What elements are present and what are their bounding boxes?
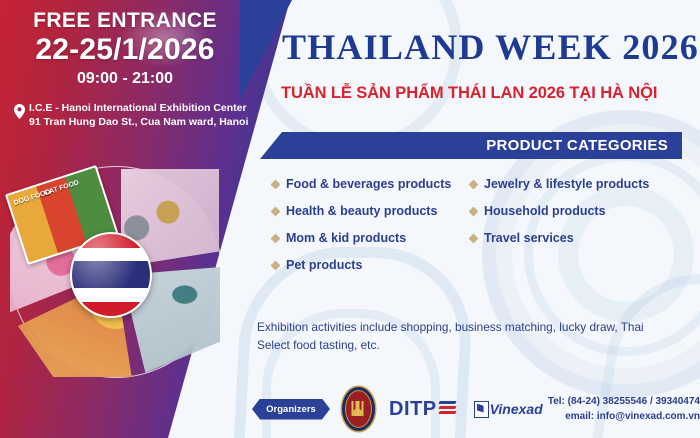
venue-address: 91 Tran Hung Dao St., Cua Nam ward, Hano… — [29, 115, 248, 129]
diamond-bullet-icon — [469, 233, 479, 243]
product-categories-banner: PRODUCT CATEGORIES — [260, 132, 682, 159]
venue-text: I.C.E - Hanoi International Exhibition C… — [29, 101, 248, 129]
product-categories-label: PRODUCT CATEGORIES — [486, 137, 668, 154]
exhibition-activities-text: Exhibition activities include shopping, … — [257, 318, 677, 355]
page-title: THAILAND WEEK 2026 — [282, 26, 699, 68]
venue-name: I.C.E - Hanoi International Exhibition C… — [29, 101, 248, 115]
thailand-flag-icon — [70, 232, 152, 318]
diamond-bullet-icon — [469, 206, 479, 216]
contact-tel: Tel: (84-24) 38255546 / 39340474 — [548, 394, 700, 410]
vinexad-logo: Vinexad — [474, 401, 543, 418]
diamond-bullet-icon — [271, 233, 281, 243]
category-item: Food & beverages products — [272, 177, 470, 191]
thailand-week-banner: FREE ENTRANCE 22-25/1/2026 09:00 - 21:00… — [0, 0, 700, 438]
category-item: Jewelry & lifestyle products — [470, 177, 649, 191]
categories-column-2: Jewelry & lifestyle products Household p… — [470, 177, 649, 272]
footer-organizers-bar: Organizers DITP Vinexad Tel: (84-24) 382… — [252, 385, 700, 433]
vinexad-logo-text: Vinexad — [490, 401, 543, 417]
cat-food-label: CAT FOOD — [44, 179, 80, 197]
organizers-label: Organizers — [266, 404, 316, 415]
diamond-bullet-icon — [271, 179, 281, 189]
category-item: Household products — [470, 204, 649, 218]
organizers-badge: Organizers — [252, 399, 330, 420]
category-label: Jewelry & lifestyle products — [484, 177, 649, 191]
event-dates: 22-25/1/2026 — [0, 33, 250, 67]
contact-email: email: info@vinexad.com.vn — [548, 409, 700, 425]
diamond-bullet-icon — [271, 260, 281, 270]
ditp-stripes-icon — [439, 400, 456, 418]
page-subtitle: TUẦN LỄ SẢN PHẨM THÁI LAN 2026 TẠI HÀ NỘ… — [281, 84, 657, 103]
category-item: Pet products — [272, 258, 470, 272]
category-label: Pet products — [286, 258, 362, 272]
event-hours: 09:00 - 21:00 — [0, 70, 250, 88]
diamond-bullet-icon — [469, 179, 479, 189]
product-categories-list: Food & beverages products Health & beaut… — [272, 177, 692, 272]
categories-column-1: Food & beverages products Health & beaut… — [272, 177, 470, 272]
category-item: Travel services — [470, 231, 649, 245]
category-label: Food & beverages products — [286, 177, 451, 191]
vinexad-mark-icon — [474, 401, 489, 418]
thai-government-garuda-emblem-icon — [342, 387, 375, 431]
ditp-logo: DITP — [389, 398, 456, 421]
location-pin-icon — [14, 104, 25, 124]
category-label: Travel services — [484, 231, 574, 245]
venue-block: I.C.E - Hanoi International Exhibition C… — [14, 101, 249, 129]
ditp-logo-text: DITP — [389, 398, 437, 421]
category-item: Mom & kid products — [272, 231, 470, 245]
diamond-bullet-icon — [271, 206, 281, 216]
category-item: Health & beauty products — [272, 204, 470, 218]
product-collage-wheel: DOG FOOD CAT FOOD — [0, 148, 242, 438]
category-label: Mom & kid products — [286, 231, 406, 245]
free-entrance-label: FREE ENTRANCE — [0, 9, 250, 33]
category-label: Health & beauty products — [286, 204, 437, 218]
category-label: Household products — [484, 204, 606, 218]
contact-details: Tel: (84-24) 38255546 / 39340474 email: … — [548, 394, 700, 425]
